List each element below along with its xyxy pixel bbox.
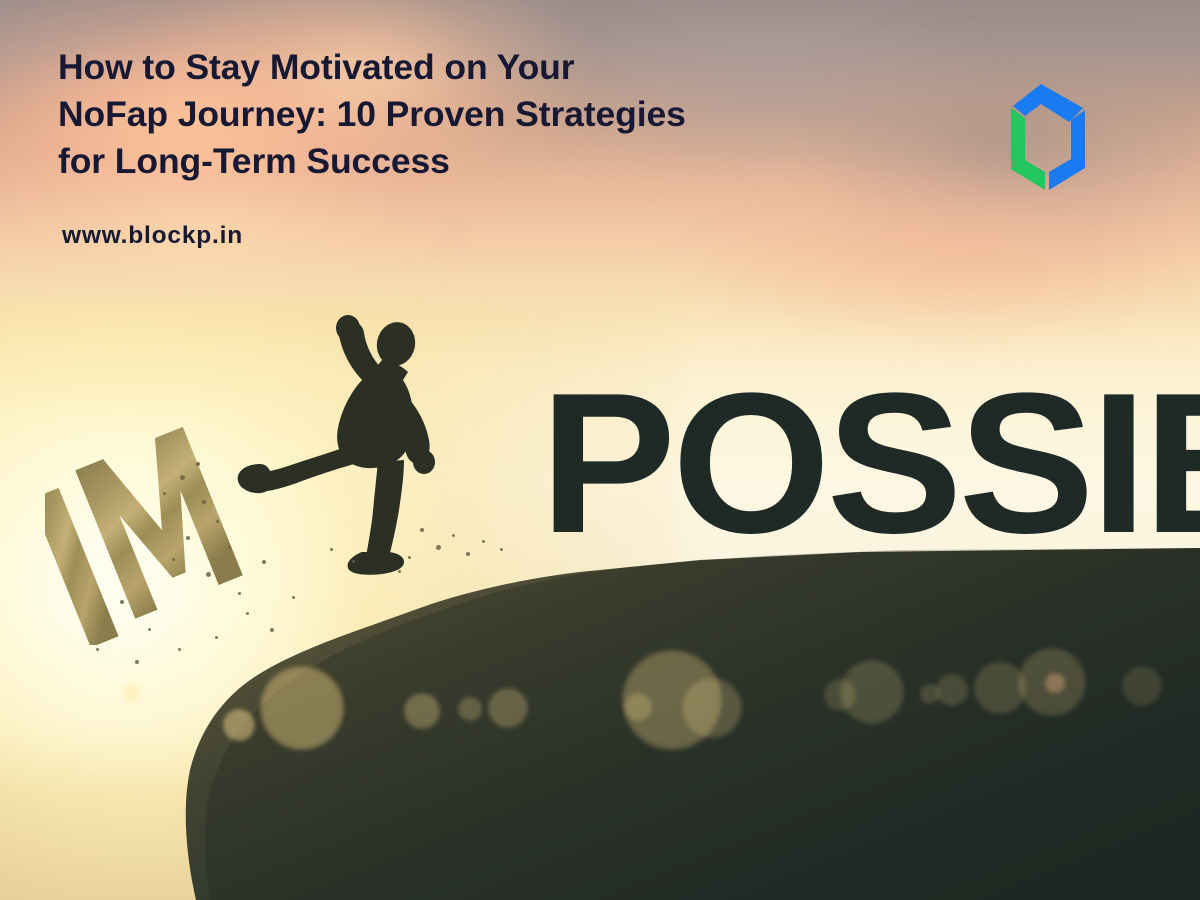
site-url-label: www.blockp.in [62,222,243,250]
banner-image: POSSIBLE [0,0,1200,900]
possible-letters-graphic: POSSIBLE [540,360,1200,560]
page-title: How to Stay Motivated on Your NoFap Jour… [58,44,938,185]
blockp-logo[interactable] [983,78,1099,200]
svg-text:POSSIBLE: POSSIBLE [540,360,1200,560]
person-silhouette-kicking [236,312,466,577]
